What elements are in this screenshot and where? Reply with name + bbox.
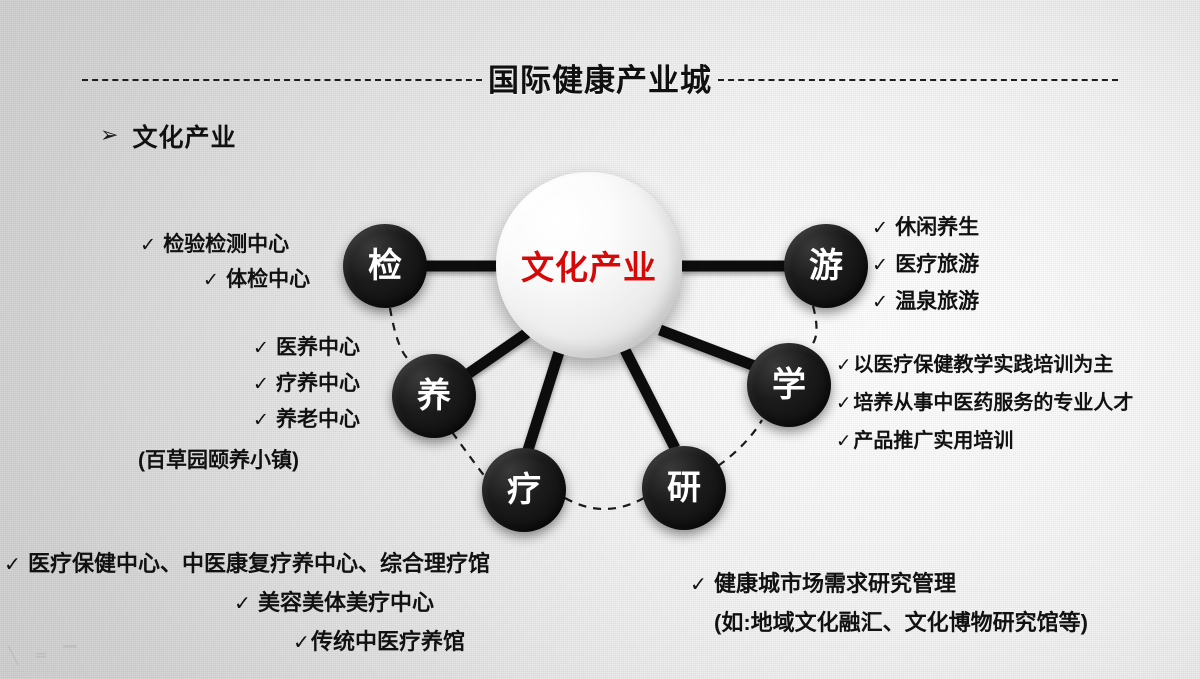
annotation-note: (百草园颐养小镇) (130, 443, 360, 478)
spoke-hub-yang (462, 333, 527, 378)
annotation-yang: ✓ 医养中心 ✓ 疗养中心 ✓ 养老中心 (百草园颐养小镇) (130, 330, 360, 478)
arc-xue-you (808, 306, 817, 348)
annotation-text: 养老中心 (276, 402, 360, 437)
annotation-text: 检验检测中心 (163, 228, 289, 262)
annotation-item: ✓ 检验检测中心 (140, 228, 355, 263)
spoke-hub-xue (660, 330, 760, 368)
node-liao-label: 疗 (507, 473, 541, 507)
annotation-item: ✓ 温泉旅游 (872, 284, 979, 321)
annotation-text: 医养中心 (276, 330, 360, 365)
check-icon: ✓ (203, 264, 219, 298)
node-xue-label: 学 (772, 368, 806, 402)
annotation-item: ✓ 以医疗保健教学实践培训为主 (836, 346, 1133, 384)
annotation-item: ✓ 医疗旅游 (872, 247, 979, 284)
annotation-item: ✓ 疗养中心 (130, 366, 360, 402)
annotation-item: ✓ 美容美体美疗中心 (4, 584, 604, 623)
annotation-text: 疗养中心 (276, 366, 360, 401)
annotation-item: ✓ 休闲养生 (872, 210, 979, 247)
annotation-text: 医疗旅游 (895, 247, 979, 283)
node-you[interactable]: 游 (784, 224, 868, 308)
check-icon: ✓ (253, 331, 269, 366)
annotation-text: 产品推广实用培训 (853, 423, 1013, 460)
node-jian-label: 检 (368, 249, 402, 283)
annotation-text: 以医疗保健教学实践培训为主 (853, 347, 1113, 384)
node-liao[interactable]: 疗 (482, 448, 566, 532)
annotation-note-text: (百草园颐养小镇) (138, 443, 299, 478)
node-yang-label: 养 (417, 379, 451, 413)
annotation-item: ✓ 医疗保健中心、中医康复疗养中心、综合理疗馆 (4, 545, 604, 584)
slide-canvas: 国际健康产业城 ➢ 文化产业 文化产业 (0, 0, 1200, 679)
arc-liao-yan (565, 498, 644, 509)
check-icon: ✓ (253, 367, 269, 402)
annotation-text: 传统中医疗养馆 (311, 623, 465, 661)
node-xue[interactable]: 学 (747, 343, 831, 427)
annotation-text: 医疗保健中心、中医康复疗养中心、综合理疗馆 (28, 545, 490, 583)
annotation-liao: ✓ 医疗保健中心、中医康复疗养中心、综合理疗馆 ✓ 美容美体美疗中心 ✓ 传统中… (4, 545, 604, 662)
watermark: ╲ ═ ▔ (8, 646, 188, 672)
annotation-text: 美容美体美疗中心 (258, 584, 434, 622)
annotation-text: 体检中心 (226, 263, 310, 297)
arc-yang-liao (452, 432, 486, 478)
annotation-note-text: (如:地域文化融汇、文化博物研究馆等) (714, 604, 1088, 642)
check-icon: ✓ (872, 211, 888, 247)
annotation-item: ✓ 医养中心 (130, 330, 360, 366)
check-icon: ✓ (253, 403, 269, 438)
node-yang[interactable]: 养 (392, 354, 476, 438)
check-icon: ✓ (836, 384, 851, 421)
annotation-you: ✓ 休闲养生 ✓ 医疗旅游 ✓ 温泉旅游 (872, 210, 979, 321)
check-icon: ✓ (4, 546, 21, 584)
annotation-item: ✓ 培养从事中医药服务的专业人才 (836, 384, 1133, 422)
annotation-item: ✓ 产品推广实用培训 (836, 422, 1133, 460)
spoke-hub-yan (625, 350, 675, 448)
annotation-text: 培养从事中医药服务的专业人才 (853, 385, 1133, 422)
annotation-item: ✓ 养老中心 (130, 402, 360, 438)
check-icon: ✓ (690, 566, 707, 604)
check-icon: ✓ (234, 585, 251, 623)
annotation-text: 温泉旅游 (895, 284, 979, 320)
annotation-item: ✓ 体检中心 (140, 263, 355, 298)
annotation-xue: ✓ 以医疗保健教学实践培训为主 ✓ 培养从事中医药服务的专业人才 ✓ 产品推广实… (836, 346, 1133, 460)
node-you-label: 游 (809, 249, 843, 283)
annotation-text: 休闲养生 (895, 210, 979, 246)
check-icon: ✓ (293, 624, 310, 662)
check-icon: ✓ (836, 346, 851, 383)
arc-yan-xue (718, 420, 762, 466)
annotation-note: (如:地域文化融汇、文化博物研究馆等) (690, 604, 1088, 642)
annotation-item: ✓ 健康城市场需求研究管理 (690, 565, 1088, 604)
node-yan-label: 研 (667, 471, 701, 505)
node-jian[interactable]: 检 (343, 224, 427, 308)
spoke-hub-liao (528, 352, 559, 450)
hub-node-culture-industry[interactable]: 文化产业 (496, 172, 682, 358)
arc-jian-yang (390, 308, 412, 362)
hub-node-label: 文化产业 (521, 241, 657, 289)
annotation-jian: ✓ 检验检测中心 ✓ 体检中心 (140, 228, 355, 298)
check-icon: ✓ (836, 422, 851, 459)
node-yan[interactable]: 研 (642, 446, 726, 530)
annotation-yan: ✓ 健康城市场需求研究管理 (如:地域文化融汇、文化博物研究馆等) (690, 565, 1088, 642)
annotation-text: 健康城市场需求研究管理 (714, 565, 956, 603)
check-icon: ✓ (872, 248, 888, 284)
check-icon: ✓ (872, 285, 888, 321)
check-icon: ✓ (140, 229, 156, 263)
